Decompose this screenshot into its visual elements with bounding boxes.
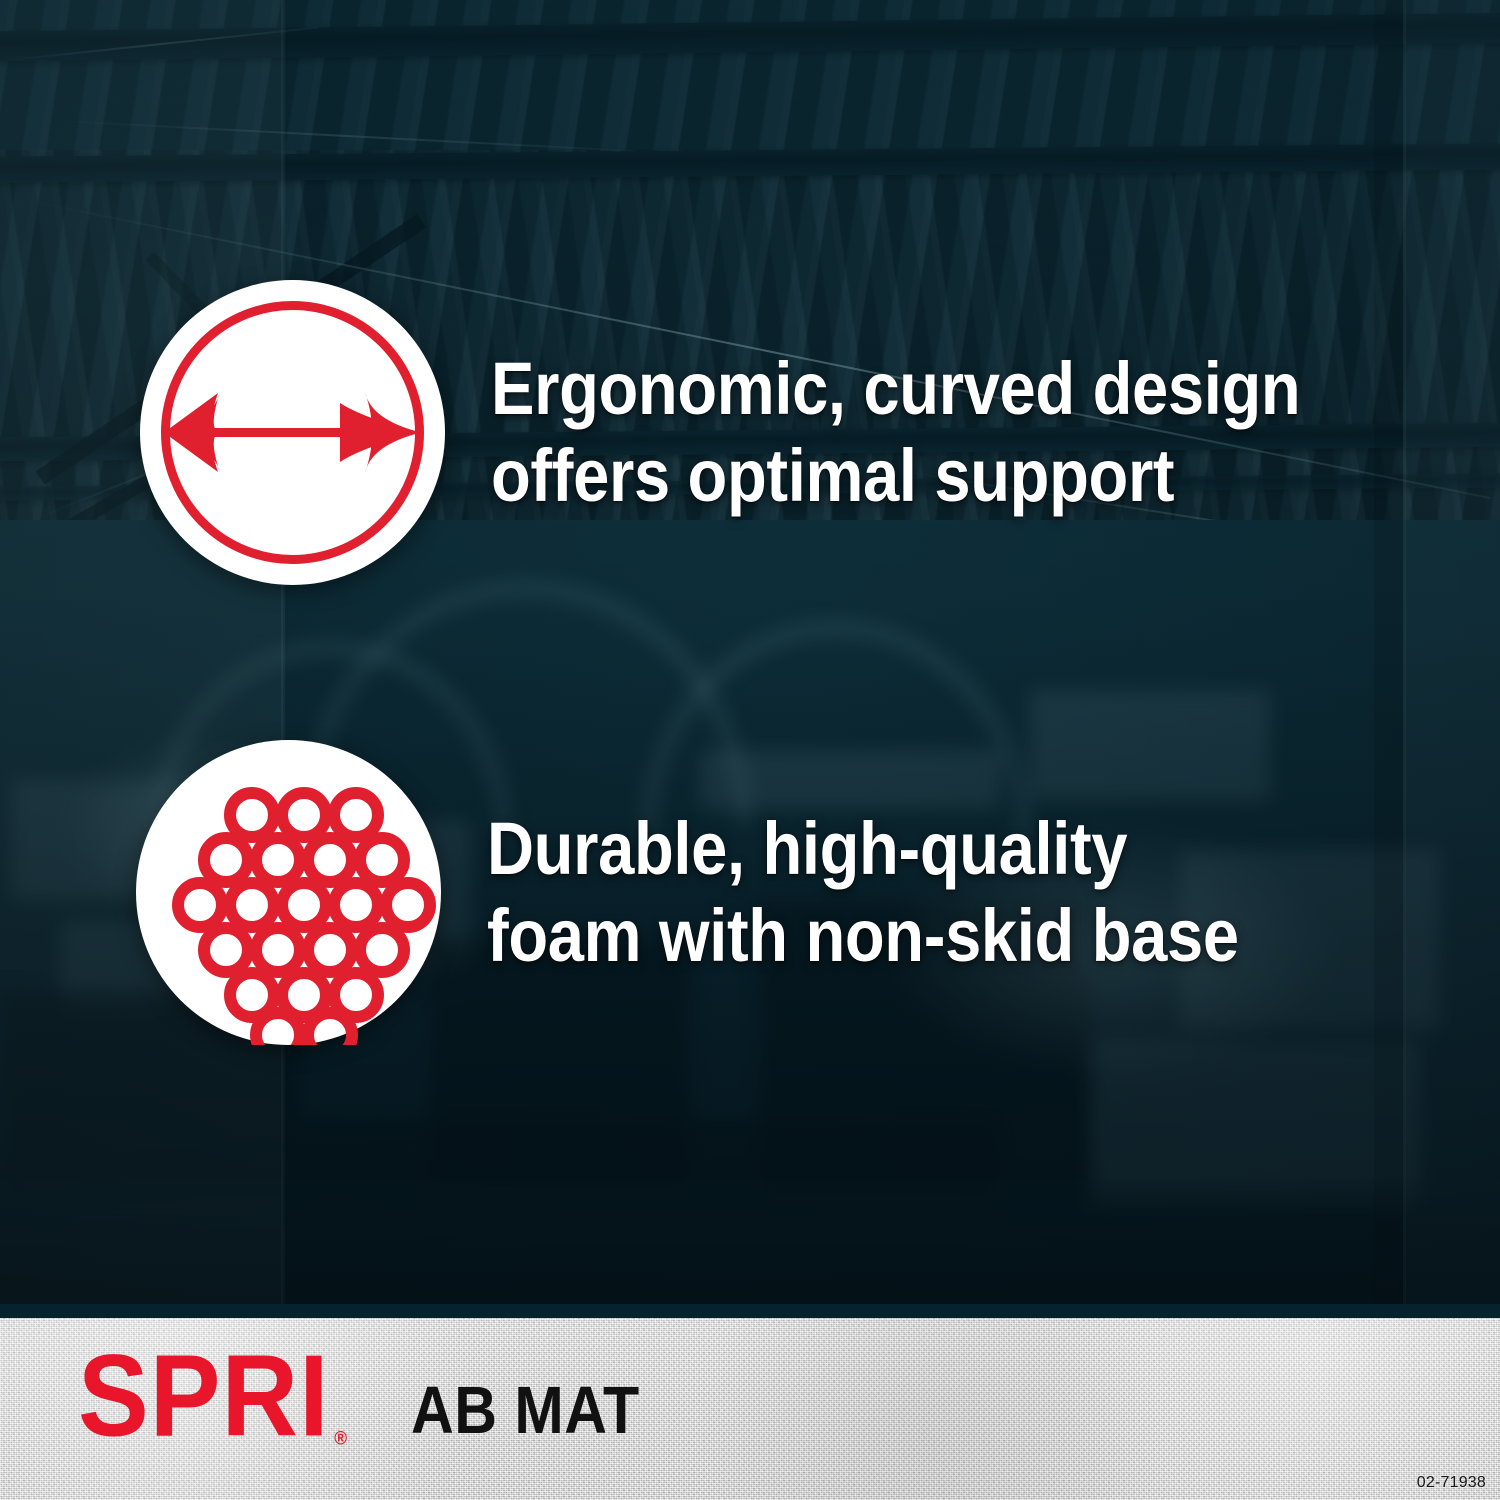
feature-item-1: Ergonomic, curved design offers optimal … — [140, 280, 1411, 585]
registered-trademark-icon: ® — [334, 1430, 348, 1447]
feature-badge-1 — [140, 280, 445, 585]
feature-line-1: Durable, high-quality — [487, 806, 1239, 893]
feature-line-2: offers optimal support — [491, 433, 1300, 520]
product-name: AB MAT — [411, 1380, 640, 1450]
photo-bottom-edge — [0, 1304, 1500, 1318]
teal-color-wash — [0, 0, 1500, 1318]
brand-row: SPRI ® AB MAT — [78, 1356, 654, 1450]
spri-logo-text: SPRI — [78, 1331, 330, 1461]
product-sku: 02-71938 — [1417, 1474, 1486, 1492]
product-feature-card: Ergonomic, curved design offers optimal … — [0, 0, 1500, 1500]
footer-bar: SPRI ® AB MAT 02-71938 — [0, 1318, 1500, 1500]
feature-badge-2 — [136, 740, 441, 1045]
background-photo — [0, 0, 1500, 1318]
feature-item-2: Durable, high-quality foam with non-skid… — [136, 740, 1341, 1045]
feature-line-1: Ergonomic, curved design — [491, 346, 1300, 433]
foam-cells-icon — [136, 740, 441, 1045]
double-arrow-icon — [140, 280, 445, 585]
feature-line-2: foam with non-skid base — [487, 893, 1239, 980]
feature-text-2: Durable, high-quality foam with non-skid… — [487, 806, 1239, 979]
spri-logo: SPRI ® — [78, 1345, 330, 1450]
feature-text-1: Ergonomic, curved design offers optimal … — [491, 346, 1300, 519]
